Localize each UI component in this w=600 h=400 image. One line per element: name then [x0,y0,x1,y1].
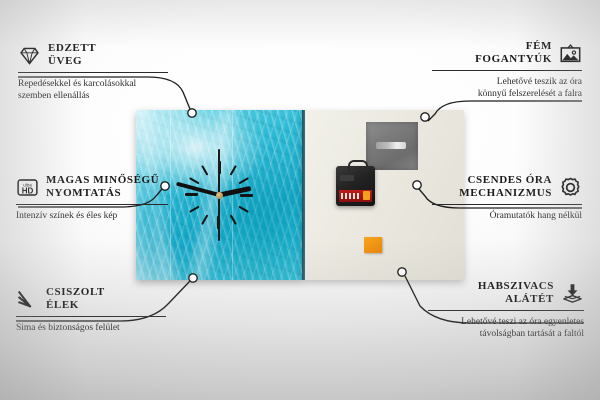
clock-mechanism [336,166,375,206]
second-hand-upper [218,149,220,195]
feature-title-line2: ÉLEK [46,299,105,312]
diamond-icon [18,44,41,67]
hanger-slot [376,142,406,149]
feature-divider [432,204,582,205]
feature-title-line2: ÜVEG [48,55,96,68]
feature-title-line1: MAGAS MINŐSÉGŰ [46,174,159,187]
feature-desc-line1: Lehetővé teszi az óra egyenletes [428,316,584,328]
feature-title-line2: ALÁTÉT [478,293,554,306]
hand-cap [216,192,223,199]
feature-desc-line1: Óramutatók hang nélkül [432,210,582,222]
feature-divider [16,316,166,317]
picture-hanger-icon [559,42,582,65]
feature-desc-line1: Repedésekkel és karcolásokkal [18,78,168,90]
feature-desc-line1: Sima és biztonságos felület [16,322,166,334]
feature-header: HABSZIVACS ALÁTÉT [428,280,584,306]
feature-edzett-uveg[interactable]: EDZETT ÜVEG Repedésekkel és karcolásokka… [18,42,168,102]
gear-icon [559,176,582,199]
feature-magas-minosegu-nyomtatas[interactable]: ultra HD MAGAS MINŐSÉGŰ NYOMTATÁS Intenz… [16,174,168,222]
foam-pad-icon [561,282,584,305]
glass-edge [302,110,305,280]
mechanism-loop [348,160,368,171]
feature-divider [16,204,168,205]
feature-divider [428,310,584,311]
feature-csendes-ora-mechanizmus[interactable]: CSENDES ÓRA MECHANIZMUS Óramutatók hang … [432,174,582,222]
feature-desc-line1: Lehetővé teszik az óra [432,76,582,88]
feature-title-line1: EDZETT [48,42,96,55]
ultra-hd-icon: ultra HD [16,176,39,199]
polished-edges-icon [16,288,39,311]
feature-desc-line2: távolságban tartását a faltól [428,328,584,340]
product-image [136,110,464,280]
feature-title-line2: MECHANIZMUS [459,187,552,200]
feature-divider [432,70,582,71]
battery [339,190,372,202]
feature-desc-line2: könnyű felszerelését a falra [432,88,582,100]
feature-header: CSENDES ÓRA MECHANIZMUS [432,174,582,200]
metal-hanger-plate [366,122,418,170]
feature-title-line1: CSISZOLT [46,286,105,299]
feature-title-line2: NYOMTATÁS [46,187,159,200]
infographic-canvas: EDZETT ÜVEG Repedésekkel és karcolásokka… [0,0,600,400]
second-hand [218,195,220,241]
feature-title-line1: HABSZIVACS [478,280,554,293]
feature-title-line1: FÉM [475,40,552,53]
feature-title-line2: FOGANTYÚK [475,53,552,66]
feature-title-line1: CSENDES ÓRA [459,174,552,187]
feature-header: ultra HD MAGAS MINŐSÉGŰ NYOMTATÁS [16,174,168,200]
feature-divider [18,72,168,73]
feature-desc-line2: szemben ellenállás [18,90,168,102]
feature-header: EDZETT ÜVEG [18,42,168,68]
feature-header: FÉM FOGANTYÚK [432,40,582,66]
feature-csiszolt-elek[interactable]: CSISZOLT ÉLEK Sima és biztonságos felüle… [16,286,166,334]
svg-text:HD: HD [22,186,34,195]
feature-habszivacs-alatet[interactable]: HABSZIVACS ALÁTÉT Lehetővé teszi az óra … [428,280,584,340]
mechanism-notch [340,175,354,181]
feature-header: CSISZOLT ÉLEK [16,286,166,312]
foam-pad [364,237,382,253]
feature-fem-fogantyuk[interactable]: FÉM FOGANTYÚK Lehetővé teszik az óra kön… [432,40,582,100]
feature-desc-line1: Intenzív színek és éles kép [16,210,168,222]
